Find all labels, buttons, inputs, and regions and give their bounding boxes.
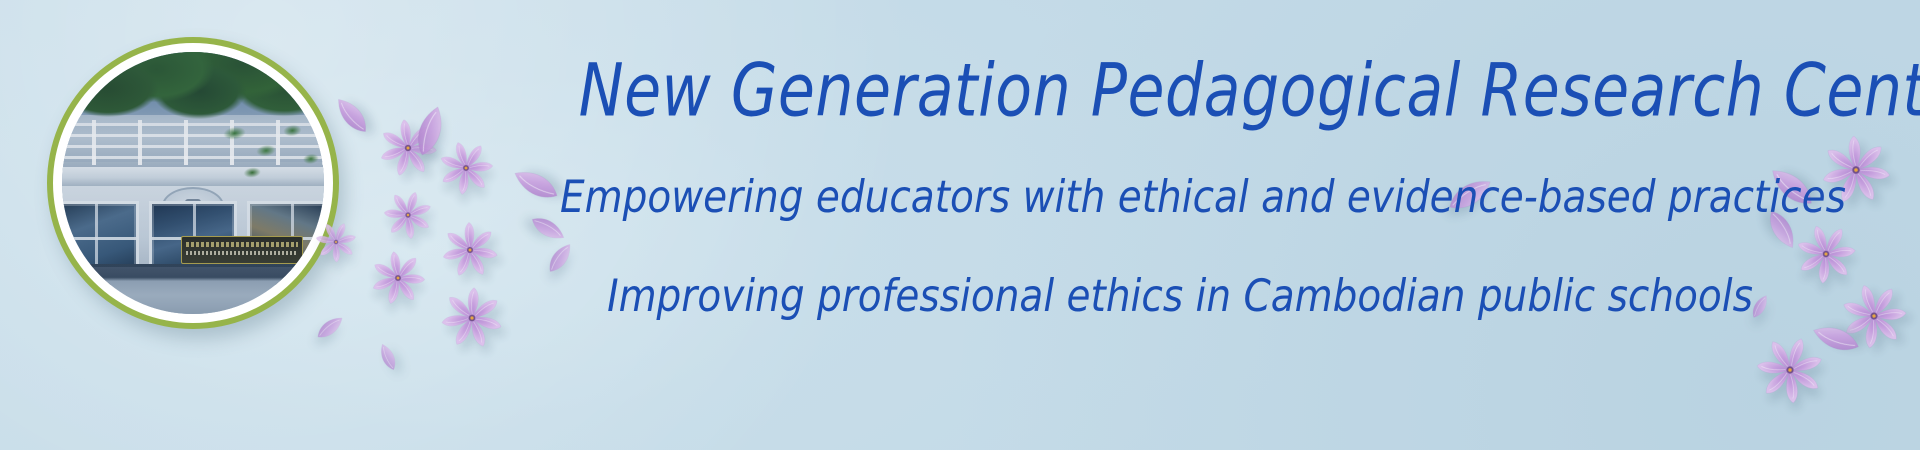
banner-subtitle-primary: Empowering educators with ethical and ev…: [560, 172, 1800, 223]
banner-subtitle-secondary: Improving professional ethics in Cambodi…: [560, 271, 1800, 322]
site-banner: New Generation Pedagogical Research Cent…: [0, 0, 1920, 450]
banner-title: New Generation Pedagogical Research Cent…: [579, 52, 1782, 129]
organization-logo[interactable]: [47, 37, 339, 329]
logo-building-photo: [62, 52, 324, 314]
banner-text-block: New Generation Pedagogical Research Cent…: [560, 52, 1800, 316]
